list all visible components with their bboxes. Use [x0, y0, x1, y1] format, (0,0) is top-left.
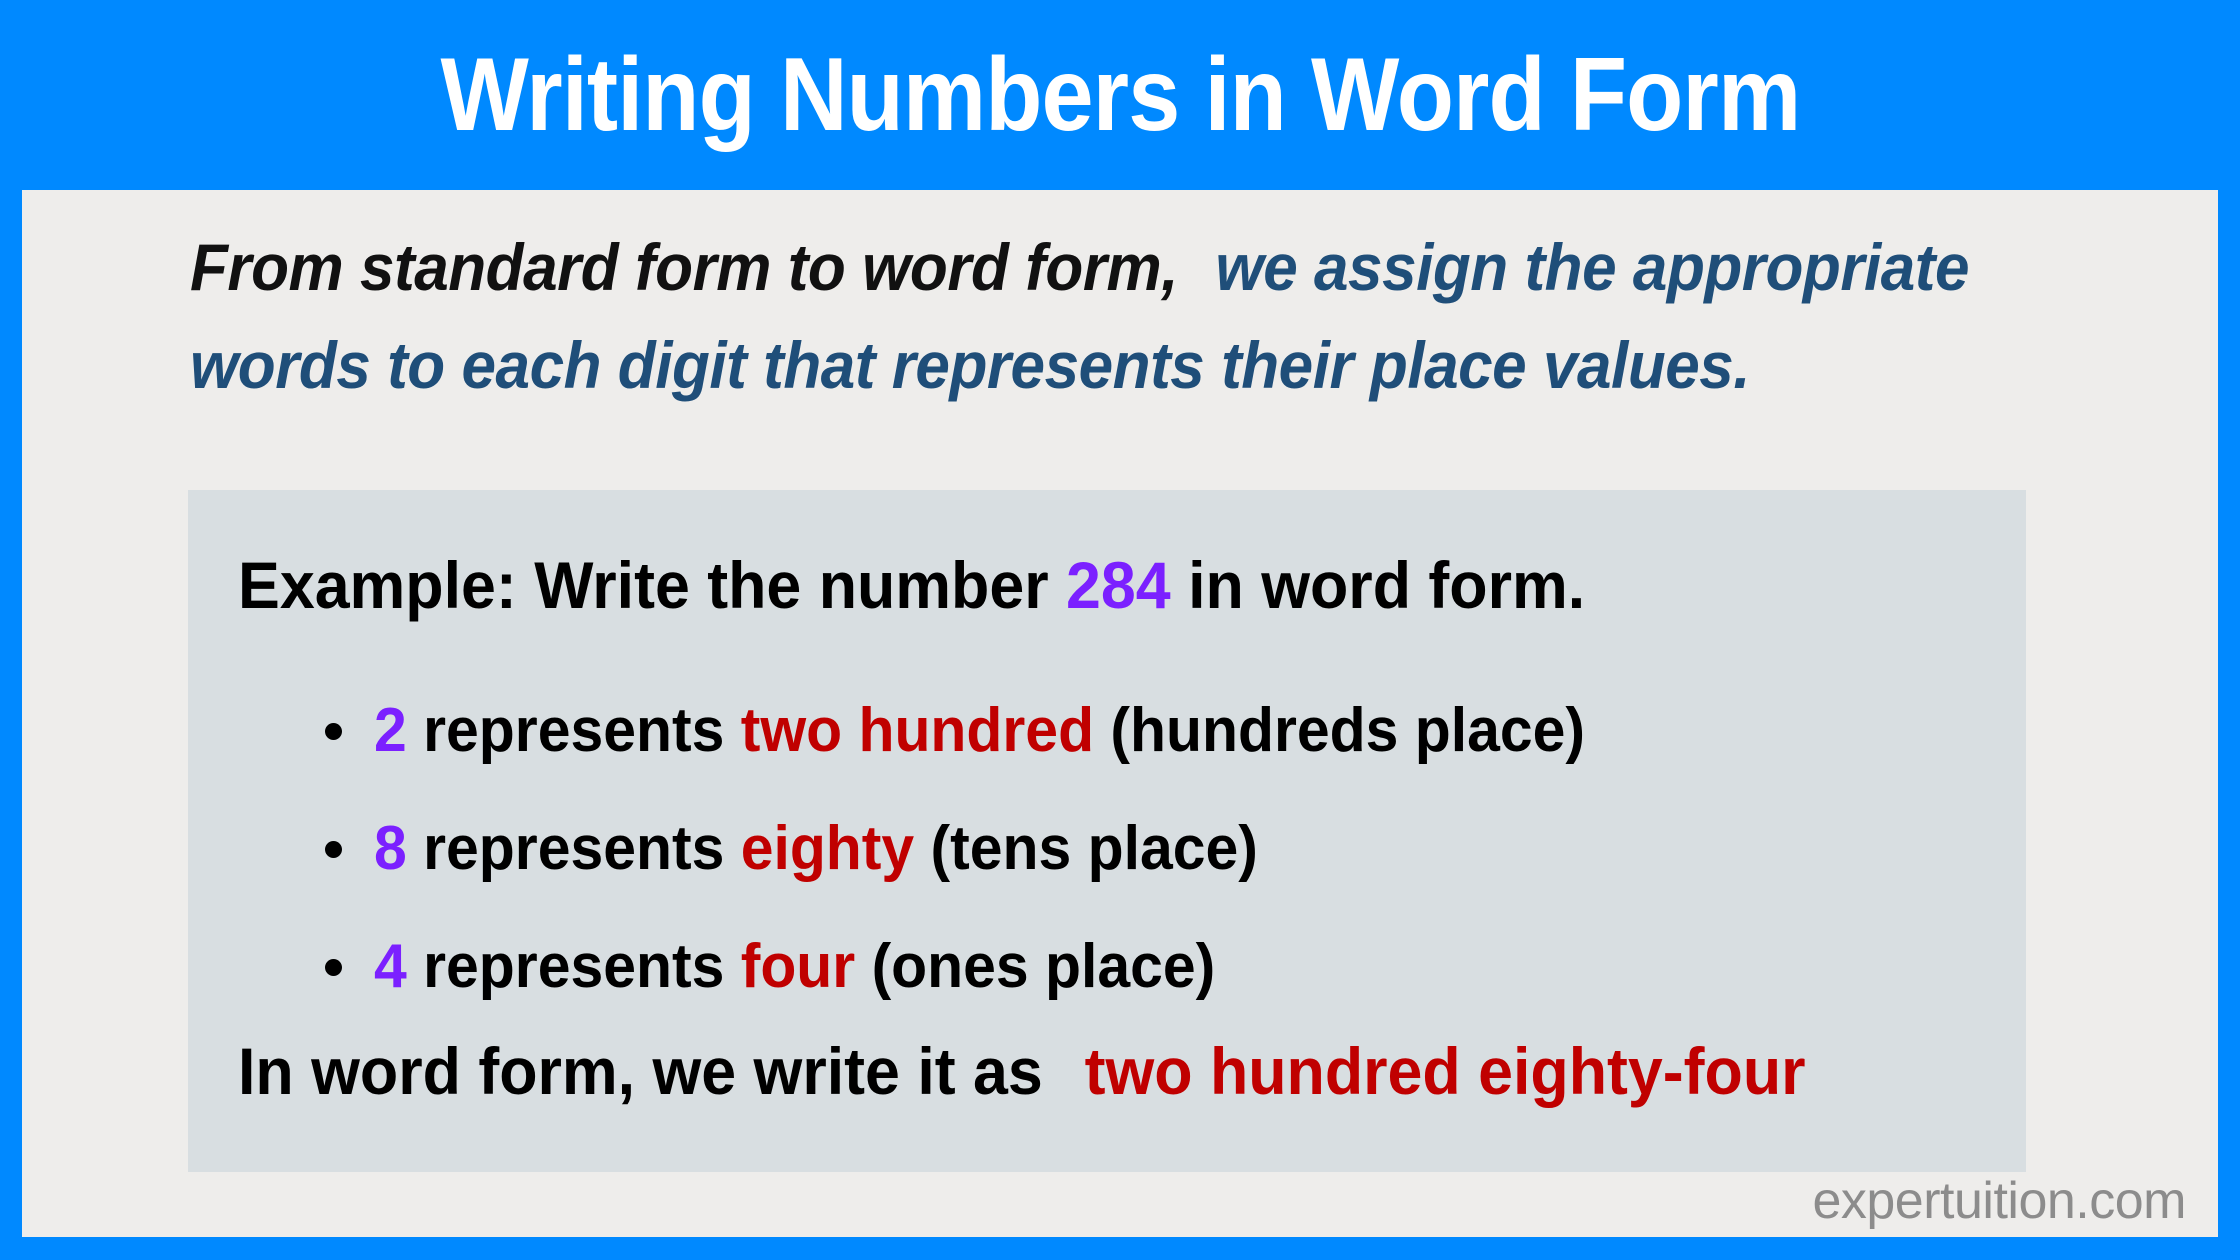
- example-heading-after: in word form.: [1171, 548, 1586, 622]
- intro-paragraph: From standard form to word form, we assi…: [190, 218, 2009, 414]
- bullet-text: 8 represents eighty (tens place): [374, 790, 1258, 908]
- bullet-represents-label: represents: [407, 814, 741, 883]
- example-number-284: 284: [1066, 548, 1171, 622]
- header-bar: Writing Numbers in Word Form: [0, 0, 2240, 190]
- bullet-digit: 2: [374, 696, 407, 765]
- bullet-word-form: four: [741, 932, 856, 1001]
- conclusion-line: In word form, we write it astwo hundred …: [238, 1038, 1806, 1104]
- list-item: 2 represents two hundred (hundreds place…: [188, 672, 2026, 790]
- conclusion-prefix: In word form, we write it as: [238, 1034, 1043, 1108]
- example-box: Example: Write the number 284 in word fo…: [188, 490, 2026, 1172]
- bullet-text: 4 represents four (ones place): [374, 908, 1215, 1026]
- bullet-word-form: two hundred: [741, 696, 1094, 765]
- bullet-place-name: (hundreds place): [1094, 696, 1585, 765]
- bullet-dot-icon: [325, 723, 342, 740]
- list-item: 8 represents eighty (tens place): [188, 790, 2026, 908]
- bullet-text: 2 represents two hundred (hundreds place…: [374, 672, 1585, 790]
- example-heading-before: Example: Write the number: [238, 548, 1066, 622]
- bullet-dot-icon: [325, 841, 342, 858]
- bullet-dot-icon: [325, 959, 342, 976]
- list-item: 4 represents four (ones place): [188, 908, 2026, 1026]
- bullet-place-name: (tens place): [914, 814, 1258, 883]
- bullet-represents-label: represents: [407, 932, 741, 1001]
- conclusion-answer: two hundred eighty-four: [1085, 1034, 1806, 1108]
- intro-lead-text: From standard form to word form,: [190, 230, 1178, 304]
- watermark-url: expertuition.com: [1812, 1175, 2186, 1227]
- bullet-digit: 8: [374, 814, 407, 883]
- bullet-digit: 4: [374, 932, 407, 1001]
- example-heading: Example: Write the number 284 in word fo…: [238, 552, 1585, 618]
- slide-canvas: Writing Numbers in Word Form From standa…: [0, 0, 2240, 1260]
- bullet-word-form: eighty: [741, 814, 914, 883]
- bullet-place-name: (ones place): [855, 932, 1215, 1001]
- page-title: Writing Numbers in Word Form: [440, 43, 1800, 147]
- bullet-represents-label: represents: [407, 696, 741, 765]
- place-value-bullet-list: 2 represents two hundred (hundreds place…: [188, 672, 2026, 1026]
- content-panel: From standard form to word form, we assi…: [22, 190, 2218, 1237]
